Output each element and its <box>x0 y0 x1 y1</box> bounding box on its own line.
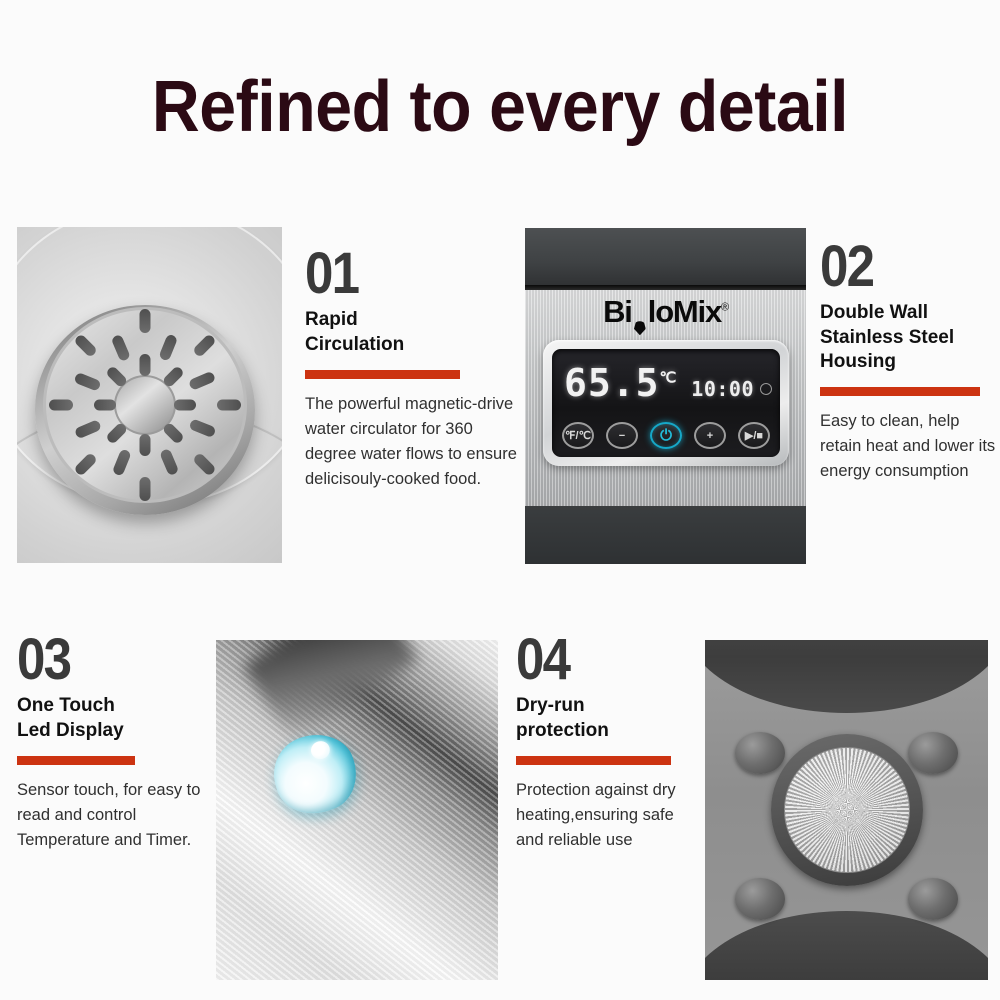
feature-title: One Touch Led Display <box>17 694 212 743</box>
accent-rule <box>17 756 135 765</box>
minus-button[interactable]: − <box>606 422 638 449</box>
feature-number: 01 <box>305 247 500 300</box>
mount-bump-top-right <box>908 732 958 774</box>
feature-title-line: Circulation <box>305 333 527 357</box>
feature-number: 02 <box>820 240 978 293</box>
power-button[interactable]: ⏻ <box>650 422 682 449</box>
grille-slot <box>111 334 131 362</box>
timer-readout: 10:00 <box>691 377 754 401</box>
control-panel-photo: BiloMix® 65.5℃ 10:00 ℉/℃ − ⏻ + ▶/■ <box>525 228 806 564</box>
feature-block-01: 01 Rapid Circulation The powerful magnet… <box>305 247 527 492</box>
grille-slot <box>140 309 151 333</box>
brand-logo-prefix: Bi <box>603 294 632 329</box>
grille-slot <box>159 448 179 476</box>
circulator-pump-grille-photo <box>17 227 282 563</box>
feature-title: Double Wall Stainless Steel Housing <box>820 301 1000 374</box>
feature-title-line: One Touch <box>17 694 212 718</box>
temperature-unit: ℃ <box>660 368 677 386</box>
mount-bump-bottom-left <box>735 878 785 920</box>
registered-trademark-icon: ® <box>721 302 728 314</box>
temperature-readout: 65.5℃ <box>564 361 676 405</box>
page-title: Refined to every detail <box>40 66 960 148</box>
grille-slot <box>140 477 151 501</box>
grille-slot <box>162 422 185 445</box>
grille-slot <box>73 372 101 392</box>
grille-slot <box>192 333 217 358</box>
water-droplet-photo <box>216 640 498 980</box>
mount-bump-top-left <box>735 732 785 774</box>
feature-description: Protection against dry heating,ensuring … <box>516 778 696 853</box>
grille-slot <box>73 333 98 358</box>
grille-slot <box>140 434 151 456</box>
feature-title-line: Housing <box>820 350 1000 374</box>
grille-slot <box>74 419 102 439</box>
feature-block-02: 02 Double Wall Stainless Steel Housing E… <box>820 240 1000 485</box>
grille-slot <box>188 371 216 391</box>
feature-number: 03 <box>17 633 189 686</box>
grille-slot <box>112 448 132 476</box>
sensor-mesh <box>784 747 910 873</box>
grille-slot <box>192 452 217 477</box>
accent-rule <box>516 756 671 765</box>
feature-title: Dry-run protection <box>516 694 696 743</box>
device-bottom-housing <box>525 506 806 564</box>
grille-slot <box>217 400 241 411</box>
feature-description: The powerful magnetic-drive water circul… <box>305 392 527 492</box>
feature-description: Easy to clean, help retain heat and lowe… <box>820 409 1000 484</box>
grille-slot <box>94 400 116 411</box>
feature-block-04: 04 Dry-run protection Protection against… <box>516 633 696 853</box>
grille-slot <box>140 354 151 376</box>
feature-title-line: Stainless Steel <box>820 326 1000 350</box>
grille-slot <box>174 400 196 411</box>
accent-rule <box>820 387 980 396</box>
grille-slot <box>73 452 98 477</box>
grille-slot <box>158 333 178 361</box>
device-top-housing <box>525 228 806 285</box>
feature-title-line: Led Display <box>17 719 212 743</box>
pump-grille-face <box>43 307 247 503</box>
grille-slot <box>162 365 185 388</box>
grille-slot <box>105 422 128 445</box>
display-bezel: 65.5℃ 10:00 ℉/℃ − ⏻ + ▶/■ <box>543 340 789 466</box>
control-button-row: ℉/℃ − ⏻ + ▶/■ <box>562 422 770 449</box>
grille-slot <box>188 418 216 438</box>
dry-run-protection-photo <box>705 640 988 980</box>
sensor-disc <box>771 734 923 886</box>
feature-title-line: Double Wall <box>820 301 1000 325</box>
clock-icon <box>760 383 772 395</box>
temperature-value: 65.5 <box>564 361 660 405</box>
infographic-page: Refined to every detail BiloMix® 65.5℃ 1… <box>0 0 1000 1000</box>
brand-logo: BiloMix® <box>525 294 806 330</box>
feature-title-line: Rapid <box>305 308 527 332</box>
feature-title: Rapid Circulation <box>305 308 527 357</box>
brand-logo-suffix: loMix <box>648 294 721 329</box>
grille-slot <box>49 400 73 411</box>
plus-button[interactable]: + <box>694 422 726 449</box>
feature-title-line: protection <box>516 719 696 743</box>
feature-block-03: 03 One Touch Led Display Sensor touch, f… <box>17 633 212 853</box>
mount-bump-bottom-right <box>908 878 958 920</box>
feature-number: 04 <box>516 633 674 686</box>
feature-title-line: Dry-run <box>516 694 696 718</box>
accent-rule <box>305 370 460 379</box>
unit-toggle-button[interactable]: ℉/℃ <box>562 422 594 449</box>
led-display-screen[interactable]: 65.5℃ 10:00 ℉/℃ − ⏻ + ▶/■ <box>552 349 780 457</box>
start-stop-button[interactable]: ▶/■ <box>738 422 770 449</box>
feature-description: Sensor touch, for easy to read and contr… <box>17 778 212 853</box>
